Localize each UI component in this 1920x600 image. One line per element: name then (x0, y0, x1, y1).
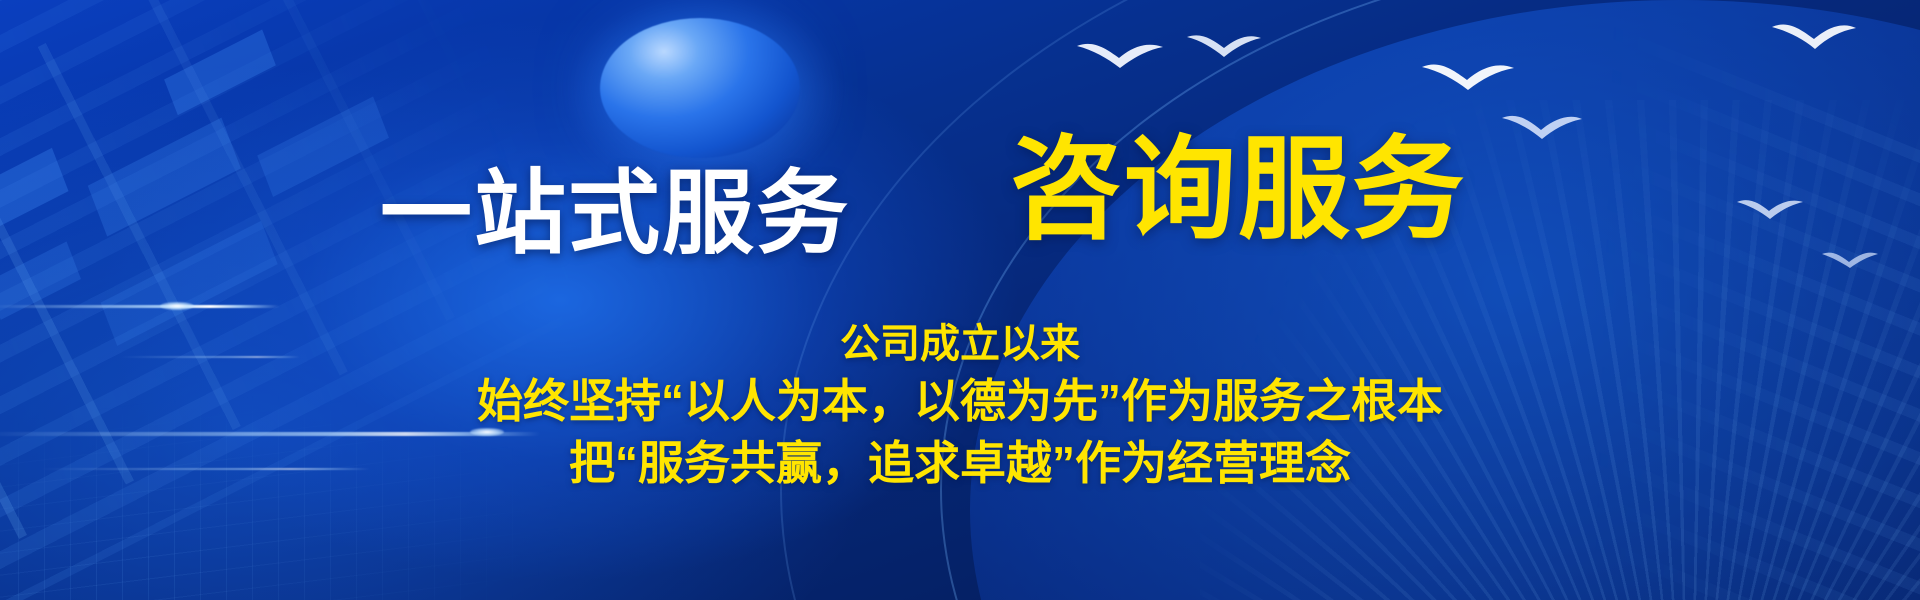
tagline-block: 公司成立以来 始终坚持“以人为本，以德为先”作为服务之根本 把“服务共赢，追求卓… (0, 318, 1920, 494)
light-streak-1 (0, 305, 280, 308)
tagline-line-1: 公司成立以来 (0, 318, 1920, 370)
seagull-icon (1185, 30, 1263, 60)
headline-primary: 一站式服务 (380, 168, 850, 260)
seagull-icon (1075, 38, 1165, 72)
seagull-icon (1820, 248, 1880, 270)
headline-accent: 咨询服务 (1010, 134, 1466, 246)
tagline-line-3: 把“服务共赢，追求卓越”作为经营理念 (0, 434, 1920, 494)
headline-group: 一站式服务 咨询服务 (0, 72, 1920, 232)
seagull-icon (1770, 18, 1858, 52)
light-flare-1 (160, 302, 194, 310)
tagline-line-2: 始终坚持“以人为本，以德为先”作为服务之根本 (0, 372, 1920, 432)
banner-canvas: 一站式服务 咨询服务 公司成立以来 始终坚持“以人为本，以德为先”作为服务之根本… (0, 0, 1920, 600)
